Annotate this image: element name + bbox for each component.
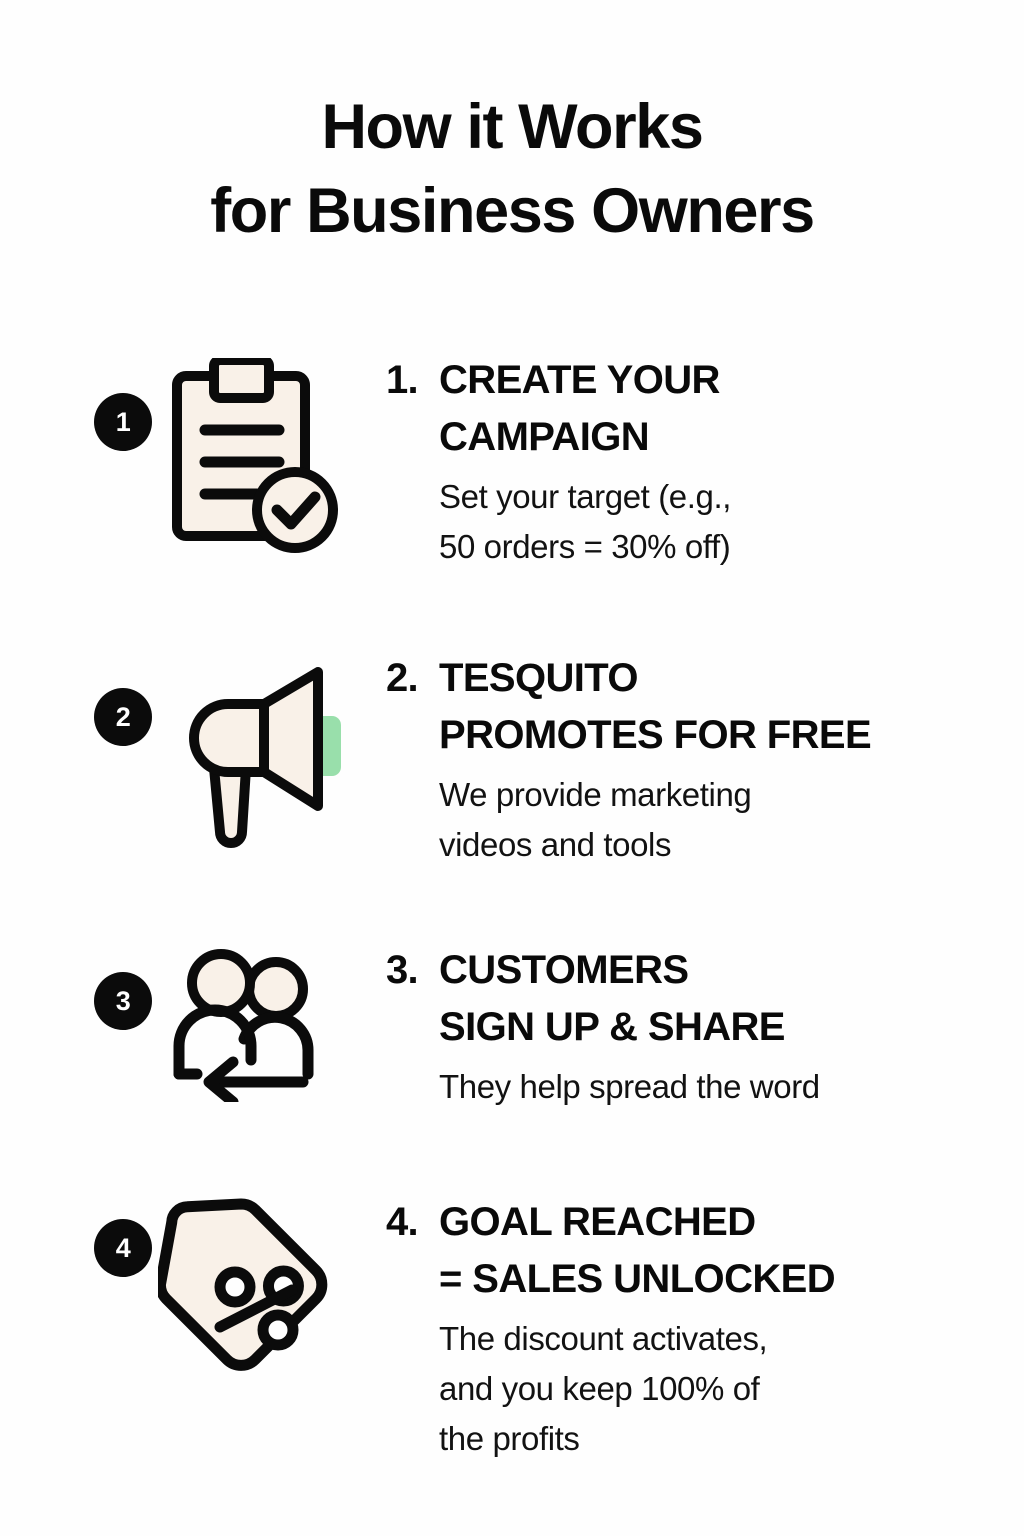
- step-heading-3-line-2: SIGN UP & SHARE: [439, 999, 785, 1056]
- megaphone-icon: [168, 658, 358, 853]
- step-heading-1-line-2: CAMPAIGN: [439, 409, 720, 466]
- step-description-2-line-1: We provide marketing: [439, 770, 984, 820]
- step-heading-2: TESQUITO PROMOTES FOR FREE: [439, 650, 871, 764]
- step-marker-3: 3.: [386, 942, 439, 999]
- two-people-share-icon: [163, 942, 353, 1107]
- step-number-badge-label-4: 4: [116, 1235, 131, 1262]
- step-heading-3: CUSTOMERS SIGN UP & SHARE: [439, 942, 785, 1056]
- discount-tag-icon: [158, 1194, 358, 1384]
- step-description-4-line-2: and you keep 100% of: [439, 1364, 984, 1414]
- step-heading-1-line-1: CREATE YOUR: [439, 352, 720, 409]
- step-description-3: They help spread the word: [439, 1062, 984, 1112]
- steps-list: 1 1.: [0, 352, 1024, 1494]
- step-2-icon-column: 2: [0, 650, 386, 942]
- page-title-line-2: for Business Owners: [0, 170, 1024, 254]
- step-marker-1: 1.: [386, 352, 439, 409]
- step-heading-4: GOAL REACHED = SALES UNLOCKED: [439, 1194, 835, 1308]
- step-heading-2-line-1: TESQUITO: [439, 650, 871, 707]
- step-description-1-line-2: 50 orders = 30% off): [439, 522, 984, 572]
- step-number-badge-label-2: 2: [116, 704, 131, 731]
- step-4-text-column: 4. GOAL REACHED = SALES UNLOCKED The dis…: [386, 1194, 1024, 1464]
- step-description-4-line-3: the profits: [439, 1414, 984, 1464]
- step-description-3-line-1: They help spread the word: [439, 1062, 984, 1112]
- step-item-1: 1 1.: [0, 352, 1024, 650]
- step-2-heading-row: 2. TESQUITO PROMOTES FOR FREE: [386, 650, 984, 764]
- step-item-4: 4 4. GOAL REACHED: [0, 1194, 1024, 1494]
- step-3-icon-column: 3: [0, 942, 386, 1194]
- step-number-badge-4: 4: [94, 1219, 152, 1277]
- step-1-text-column: 1. CREATE YOUR CAMPAIGN Set your target …: [386, 352, 1024, 572]
- step-2-text-column: 2. TESQUITO PROMOTES FOR FREE We provide…: [386, 650, 1024, 870]
- step-heading-2-line-2: PROMOTES FOR FREE: [439, 707, 871, 764]
- step-number-badge-3: 3: [94, 972, 152, 1030]
- step-4-icon-column: 4: [0, 1194, 386, 1494]
- step-number-badge-1: 1: [94, 393, 152, 451]
- step-heading-4-line-2: = SALES UNLOCKED: [439, 1251, 835, 1308]
- step-description-4-line-1: The discount activates,: [439, 1314, 984, 1364]
- step-4-heading-row: 4. GOAL REACHED = SALES UNLOCKED: [386, 1194, 984, 1308]
- step-heading-4-line-1: GOAL REACHED: [439, 1194, 835, 1251]
- page-title: How it Works for Business Owners: [0, 86, 1024, 254]
- step-marker-4: 4.: [386, 1194, 439, 1251]
- step-description-2-line-2: videos and tools: [439, 820, 984, 870]
- step-marker-2: 2.: [386, 650, 439, 707]
- step-number-badge-2: 2: [94, 688, 152, 746]
- page-title-line-1: How it Works: [0, 86, 1024, 170]
- clipboard-check-icon: [163, 358, 353, 563]
- step-1-heading-row: 1. CREATE YOUR CAMPAIGN: [386, 352, 984, 466]
- step-item-2: 2 2. TESQUITO PROMO: [0, 650, 1024, 942]
- step-heading-1: CREATE YOUR CAMPAIGN: [439, 352, 720, 466]
- step-number-badge-label-3: 3: [116, 988, 131, 1015]
- step-description-1-line-1: Set your target (e.g.,: [439, 472, 984, 522]
- step-heading-3-line-1: CUSTOMERS: [439, 942, 785, 999]
- step-3-heading-row: 3. CUSTOMERS SIGN UP & SHARE: [386, 942, 984, 1056]
- step-number-badge-label-1: 1: [116, 409, 131, 436]
- step-item-3: 3 3. CU: [0, 942, 1024, 1194]
- step-description-2: We provide marketing videos and tools: [439, 770, 984, 870]
- step-3-text-column: 3. CUSTOMERS SIGN UP & SHARE They help s…: [386, 942, 1024, 1112]
- step-description-1: Set your target (e.g., 50 orders = 30% o…: [439, 472, 984, 572]
- step-1-icon-column: 1: [0, 352, 386, 650]
- step-description-4: The discount activates, and you keep 100…: [439, 1314, 984, 1464]
